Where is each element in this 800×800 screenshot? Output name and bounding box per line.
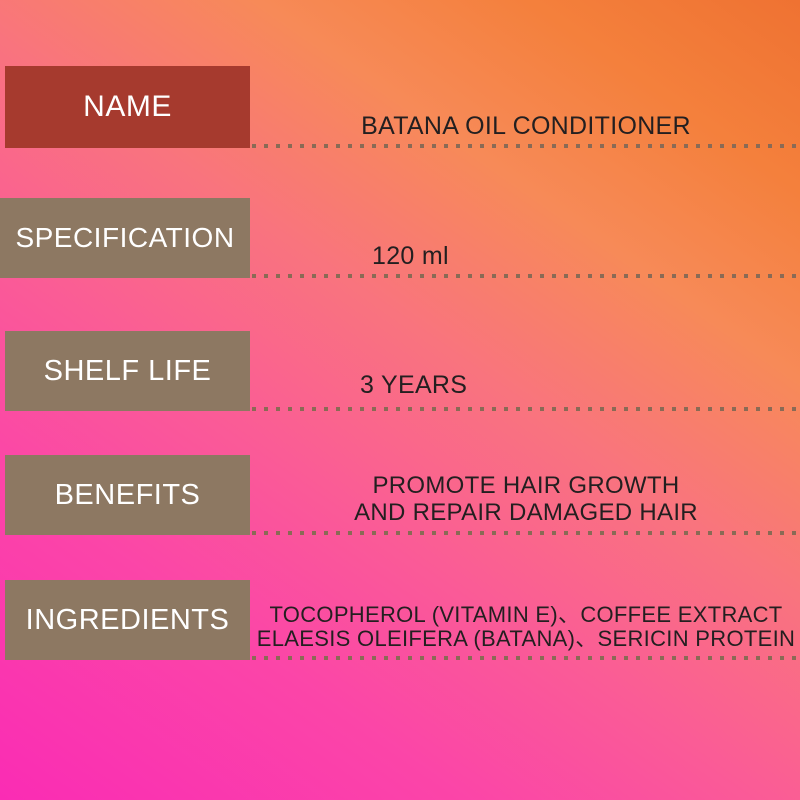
row-value-shelf-life-line-1: 3 YEARS — [360, 371, 467, 399]
row-value-specification-line-1: 120 ml — [372, 242, 449, 270]
row-value-specification: 120 ml — [252, 198, 800, 270]
row-label-shelf-life: SHELF LIFE — [5, 331, 250, 411]
row-label-name: NAME — [5, 66, 250, 148]
row-value-benefits: PROMOTE HAIR GROWTH AND REPAIR DAMAGED H… — [252, 455, 800, 527]
row-label-shelf-life-text: SHELF LIFE — [44, 357, 212, 386]
row-value-benefits-line-1: PROMOTE HAIR GROWTH — [372, 473, 679, 500]
row-value-name: BATANA OIL CONDITIONER — [252, 66, 800, 140]
row-value-ingredients: TOCOPHEROL (VITAMIN E)、COFFEE EXTRACT EL… — [252, 580, 800, 652]
row-divider-dots-specification — [252, 274, 800, 278]
row-value-name-line-1: BATANA OIL CONDITIONER — [361, 112, 691, 140]
row-value-ingredients-line-2: ELAESIS OLEIFERA (BATANA)、SERICIN PROTEI… — [257, 627, 795, 652]
row-label-specification: SPECIFICATION — [0, 198, 250, 278]
row-label-benefits: BENEFITS — [5, 455, 250, 535]
row-divider-dots-shelf-life — [252, 407, 800, 411]
row-label-ingredients-text: INGREDIENTS — [26, 606, 230, 635]
product-spec-card: NAME BATANA OIL CONDITIONER SPECIFICATIO… — [0, 0, 800, 800]
row-label-name-text: NAME — [83, 92, 172, 122]
row-value-benefits-line-2: AND REPAIR DAMAGED HAIR — [354, 500, 698, 527]
row-label-ingredients: INGREDIENTS — [5, 580, 250, 660]
row-label-specification-text: SPECIFICATION — [15, 224, 234, 252]
row-value-shelf-life: 3 YEARS — [252, 331, 800, 399]
row-value-ingredients-line-1: TOCOPHEROL (VITAMIN E)、COFFEE EXTRACT — [269, 603, 782, 628]
row-divider-dots-benefits — [252, 531, 800, 535]
row-divider-dots-name — [252, 144, 800, 148]
row-label-benefits-text: BENEFITS — [55, 481, 201, 510]
row-divider-dots-ingredients — [252, 656, 800, 660]
